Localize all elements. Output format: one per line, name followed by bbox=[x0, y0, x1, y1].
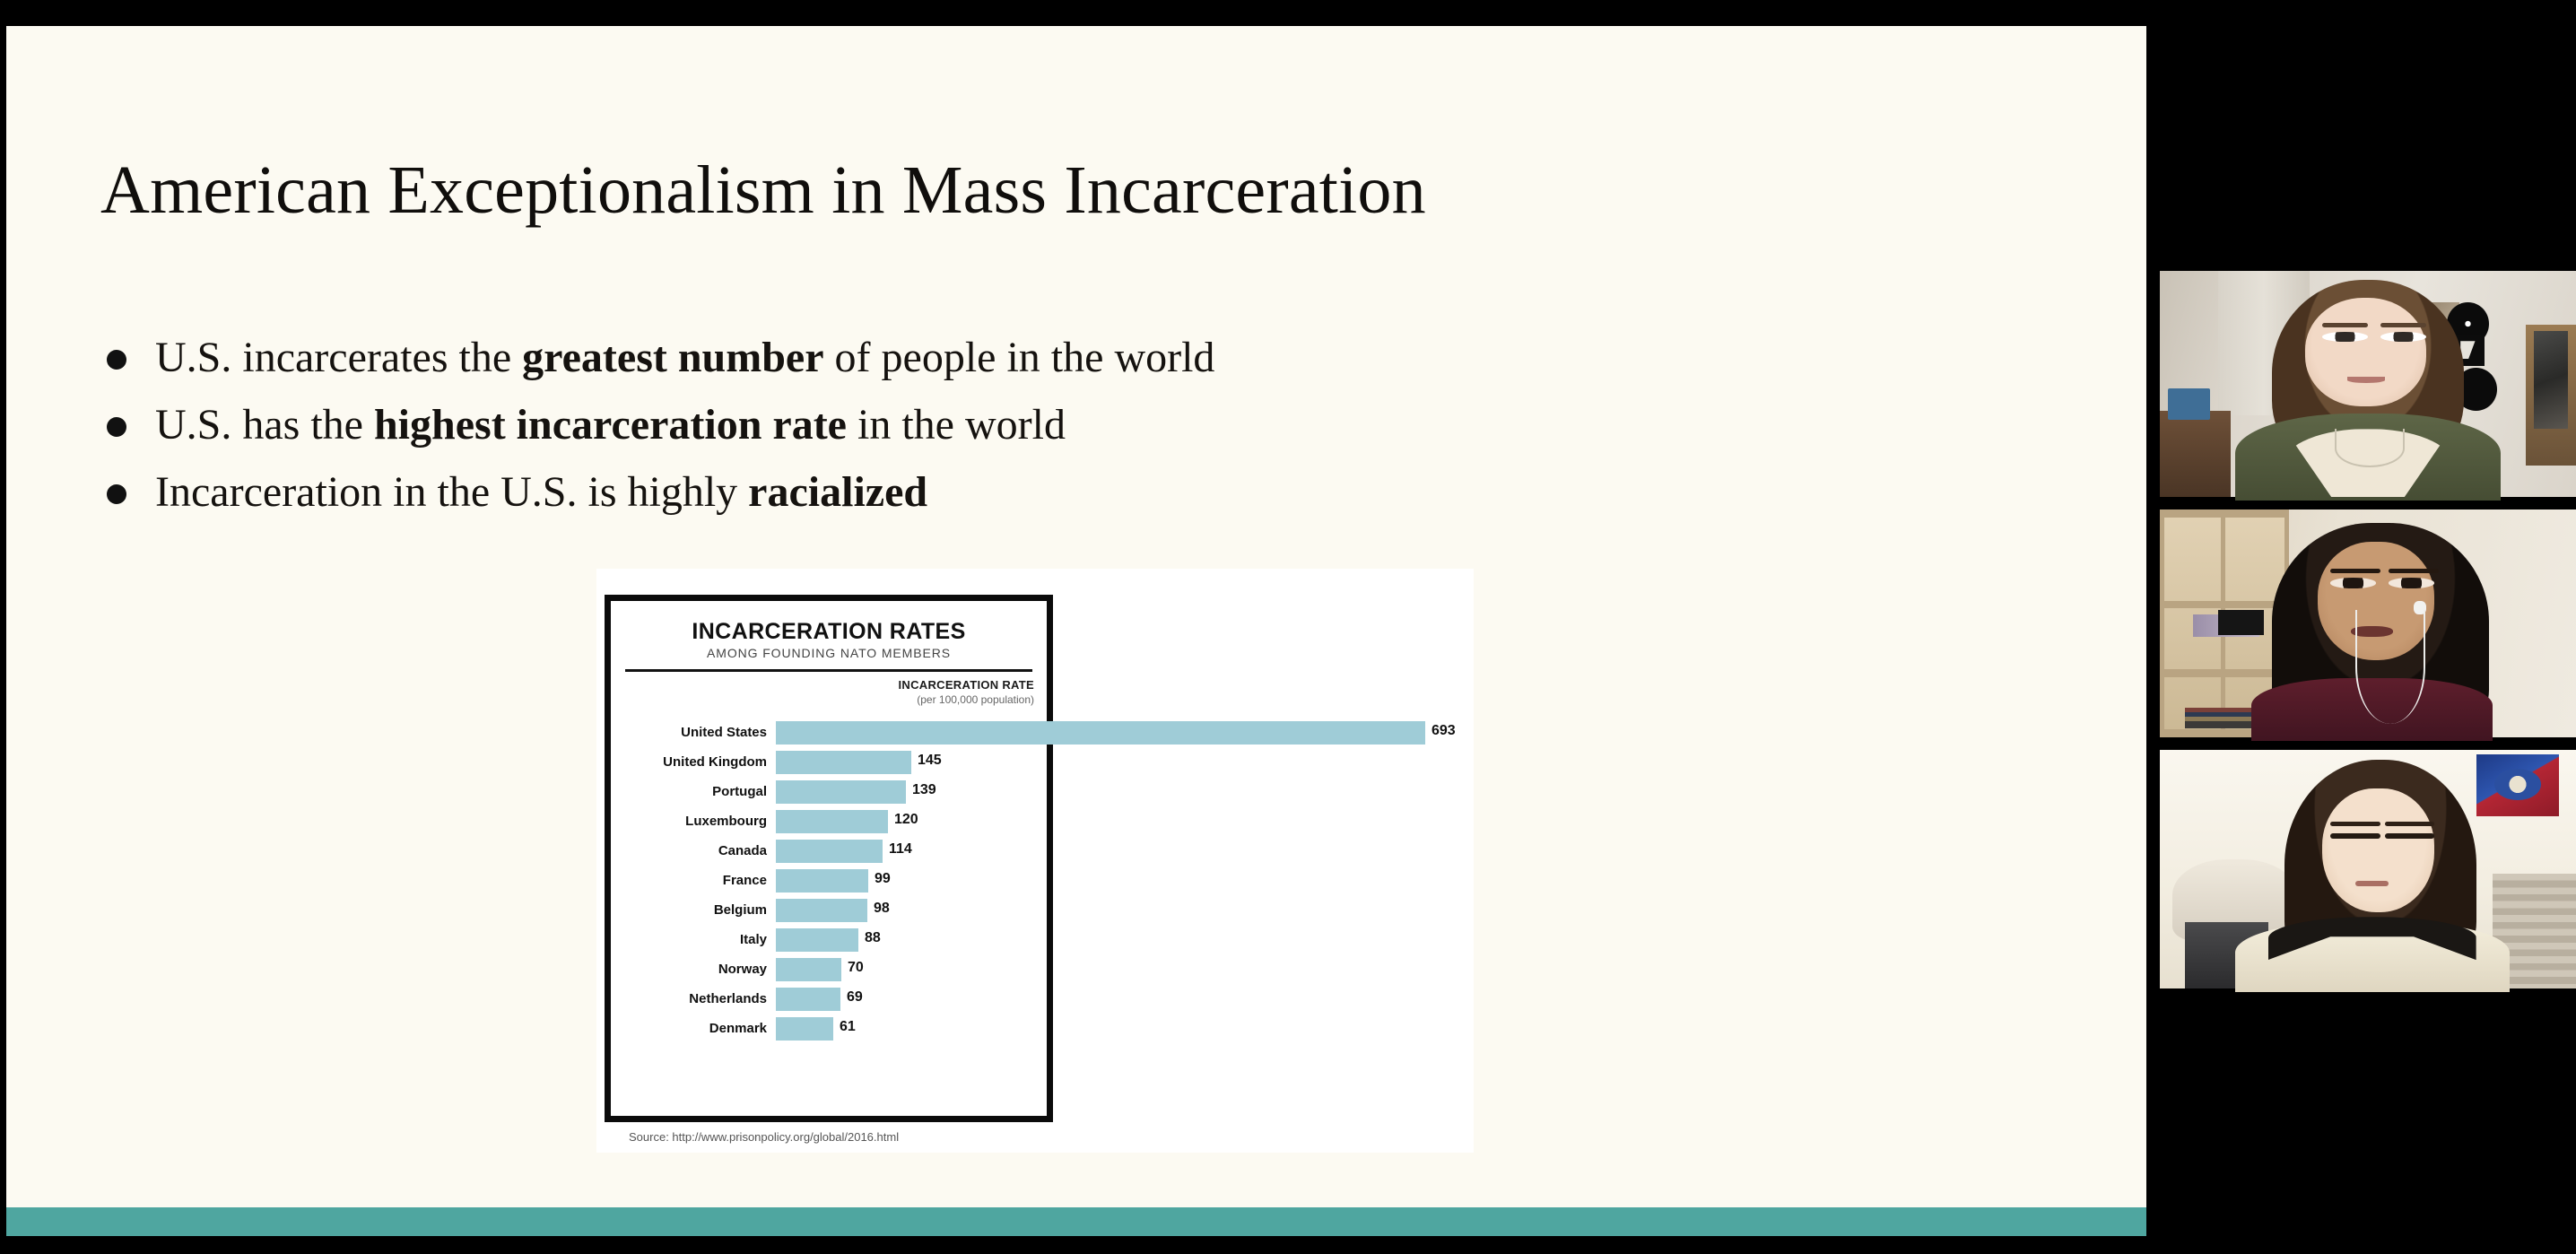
chart-axis-caption: INCARCERATION RATE (per 100,000 populati… bbox=[898, 678, 1034, 706]
participants-video-strip bbox=[2153, 0, 2576, 1254]
axis-caption-line2: (per 100,000 population) bbox=[898, 693, 1034, 706]
bar-fill bbox=[776, 958, 841, 981]
chart-bars: United States693United Kingdom145Portuga… bbox=[611, 718, 1047, 1043]
bar-category-label: Belgium bbox=[611, 902, 776, 918]
list-item: U.S. incarcerates the greatest number of… bbox=[107, 335, 1945, 381]
table-row: Belgium98 bbox=[611, 895, 1047, 925]
bar-track: 145 bbox=[776, 751, 1047, 774]
bar-category-label: United Kingdom bbox=[611, 754, 776, 770]
bar-track: 114 bbox=[776, 840, 1047, 863]
incarceration-rates-chart-image: INCARCERATION RATES AMONG FOUNDING NATO … bbox=[596, 569, 1474, 1153]
bar-fill bbox=[776, 840, 883, 863]
table-row: Portugal139 bbox=[611, 777, 1047, 806]
bar-value-label: 61 bbox=[840, 1019, 856, 1035]
slide-footer-accent-bar bbox=[6, 1207, 2146, 1236]
bar-value-label: 120 bbox=[894, 812, 918, 828]
bar-category-label: Netherlands bbox=[611, 991, 776, 1006]
bar-fill bbox=[776, 751, 911, 774]
table-row: Netherlands69 bbox=[611, 984, 1047, 1014]
bar-fill bbox=[776, 988, 840, 1011]
table-row: France99 bbox=[611, 866, 1047, 895]
bar-value-label: 99 bbox=[875, 871, 891, 887]
bar-value-label: 88 bbox=[865, 930, 881, 946]
participant-tile-2[interactable] bbox=[2153, 501, 2576, 741]
bar-fill bbox=[776, 810, 888, 833]
table-row: United Kingdom145 bbox=[611, 747, 1047, 777]
presentation-slide[interactable]: American Exceptionalism in Mass Incarcer… bbox=[6, 26, 2146, 1236]
bar-track: 99 bbox=[776, 869, 1047, 893]
bar-track: 693 bbox=[776, 721, 1047, 745]
table-row: Norway70 bbox=[611, 954, 1047, 984]
chart-subtitle: AMONG FOUNDING NATO MEMBERS bbox=[611, 646, 1047, 660]
bar-fill bbox=[776, 1017, 833, 1041]
bar-track: 120 bbox=[776, 810, 1047, 833]
bullet-list: U.S. incarcerates the greatest number of… bbox=[107, 335, 1945, 537]
participant-video-3 bbox=[2160, 750, 2576, 988]
bullet-text: U.S. incarcerates the greatest number of… bbox=[155, 335, 1214, 381]
bar-value-label: 693 bbox=[1432, 723, 1456, 739]
table-row: Denmark61 bbox=[611, 1014, 1047, 1043]
table-row: Luxembourg120 bbox=[611, 806, 1047, 836]
bar-fill bbox=[776, 869, 868, 893]
bullet-dot-icon bbox=[107, 417, 126, 437]
bullet-text: U.S. has the highest incarceration rate … bbox=[155, 403, 1066, 448]
bar-category-label: Portugal bbox=[611, 784, 776, 799]
table-row: Canada114 bbox=[611, 836, 1047, 866]
bar-category-label: Denmark bbox=[611, 1021, 776, 1036]
bar-track: 139 bbox=[776, 780, 1047, 804]
bullet-dot-icon bbox=[107, 484, 126, 504]
bar-value-label: 69 bbox=[847, 989, 863, 1006]
bar-value-label: 70 bbox=[848, 960, 864, 976]
bar-category-label: Luxembourg bbox=[611, 814, 776, 829]
bar-category-label: Norway bbox=[611, 962, 776, 977]
bar-fill bbox=[776, 928, 858, 952]
page-title: American Exceptionalism in Mass Incarcer… bbox=[100, 152, 1984, 230]
bar-track: 69 bbox=[776, 988, 1047, 1011]
bar-value-label: 98 bbox=[874, 901, 890, 917]
chart-title: INCARCERATION RATES bbox=[611, 619, 1047, 645]
chart-source-note: Source: http://www.prisonpolicy.org/glob… bbox=[629, 1130, 899, 1144]
bullet-text: Incarceration in the U.S. is highly raci… bbox=[155, 470, 927, 516]
bar-track: 88 bbox=[776, 928, 1047, 952]
table-row: Italy88 bbox=[611, 925, 1047, 954]
list-item: U.S. has the highest incarceration rate … bbox=[107, 403, 1945, 448]
bar-category-label: Canada bbox=[611, 843, 776, 858]
chart-divider bbox=[625, 669, 1032, 672]
bar-category-label: Italy bbox=[611, 932, 776, 947]
bar-value-label: 114 bbox=[889, 841, 912, 858]
bar-track: 61 bbox=[776, 1017, 1047, 1041]
bar-value-label: 139 bbox=[912, 782, 936, 798]
participant-video-2 bbox=[2160, 509, 2576, 737]
participant-tile-3[interactable] bbox=[2153, 741, 2576, 992]
list-item: Incarceration in the U.S. is highly raci… bbox=[107, 470, 1945, 516]
table-row: United States693 bbox=[611, 718, 1047, 747]
bar-category-label: France bbox=[611, 873, 776, 888]
bar-fill bbox=[776, 780, 906, 804]
bar-track: 98 bbox=[776, 899, 1047, 922]
bar-fill bbox=[776, 899, 867, 922]
axis-caption-line1: INCARCERATION RATE bbox=[898, 678, 1034, 692]
bar-track: 70 bbox=[776, 958, 1047, 981]
participant-video-1 bbox=[2160, 271, 2576, 497]
bar-fill bbox=[776, 721, 1425, 745]
bullet-dot-icon bbox=[107, 350, 126, 370]
bar-category-label: United States bbox=[611, 725, 776, 740]
bar-value-label: 145 bbox=[918, 753, 942, 769]
chart-frame: INCARCERATION RATES AMONG FOUNDING NATO … bbox=[605, 595, 1053, 1122]
participant-tile-1[interactable] bbox=[2153, 262, 2576, 501]
